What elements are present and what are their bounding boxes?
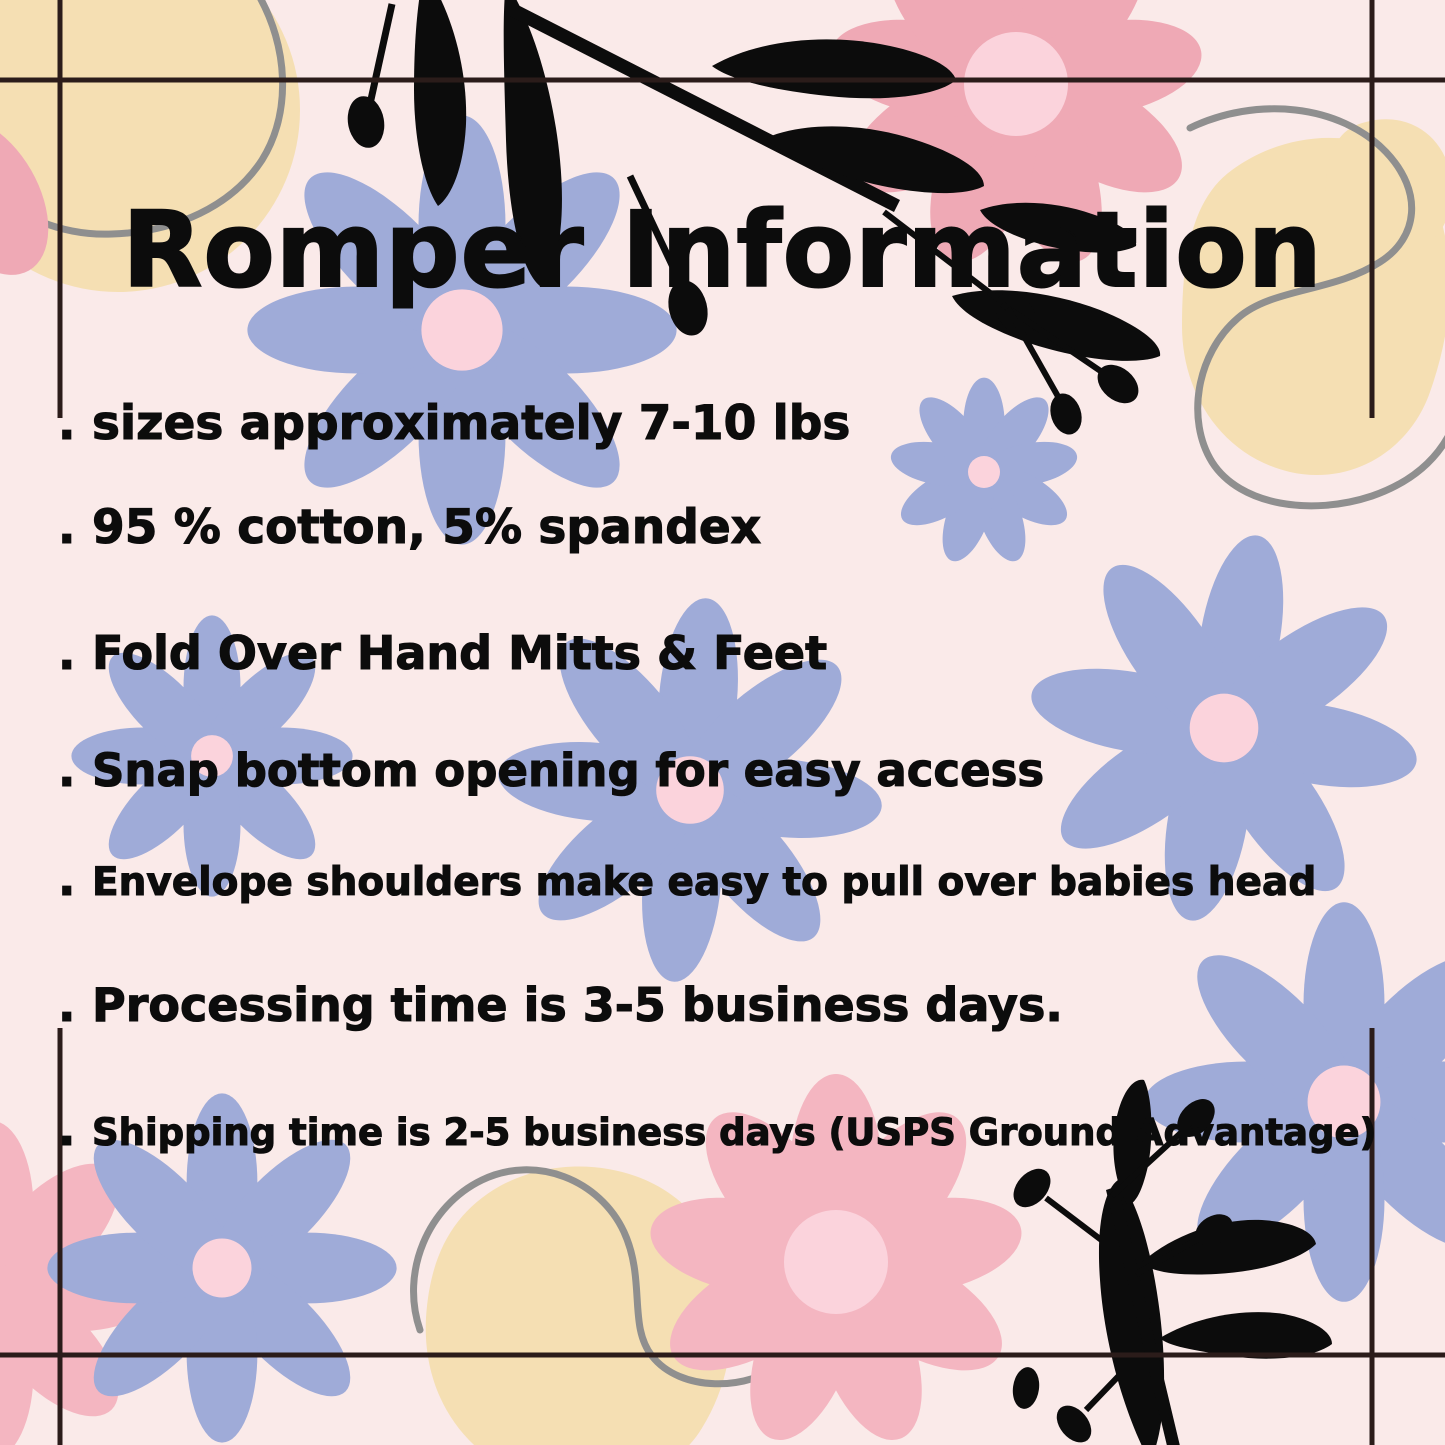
list-item-label: Shipping time is 2-5 business days (USPS… <box>92 1111 1438 1154</box>
bullet-marker-icon: . <box>58 856 92 902</box>
list-item: . Fold Over Hand Mitts & Feet <box>58 626 1438 744</box>
list-item-label: Processing time is 3-5 business days. <box>92 978 1438 1032</box>
list-item: . Snap bottom opening for easy access <box>58 744 1438 856</box>
bullet-marker-icon: . <box>58 982 92 1028</box>
bullet-marker-icon: . <box>58 504 92 550</box>
romper-info-list: . sizes approximately 7-10 lbs . 95 % co… <box>58 396 1438 1206</box>
bullet-marker-icon: . <box>58 747 92 793</box>
list-item: . Shipping time is 2-5 business days (US… <box>58 1106 1438 1206</box>
list-item-label: Snap bottom opening for easy access <box>92 744 1438 797</box>
list-item: . sizes approximately 7-10 lbs <box>58 396 1438 500</box>
list-item: . Processing time is 3-5 business days. <box>58 978 1438 1106</box>
list-item: . Envelope shoulders make easy to pull o… <box>58 856 1438 978</box>
list-item-label: Envelope shoulders make easy to pull ove… <box>92 860 1438 905</box>
page-title: Romper Information <box>0 196 1445 305</box>
bullet-marker-icon: . <box>58 630 92 676</box>
list-item-label: sizes approximately 7-10 lbs <box>92 396 1438 451</box>
list-item-label: 95 % cotton, 5% spandex <box>92 500 1438 555</box>
bullet-marker-icon: . <box>58 1106 92 1152</box>
poster-canvas: Romper Information . sizes approximately… <box>0 0 1445 1445</box>
list-item: . 95 % cotton, 5% spandex <box>58 500 1438 626</box>
bullet-marker-icon: . <box>58 400 92 446</box>
list-item-label: Fold Over Hand Mitts & Feet <box>92 626 1438 680</box>
